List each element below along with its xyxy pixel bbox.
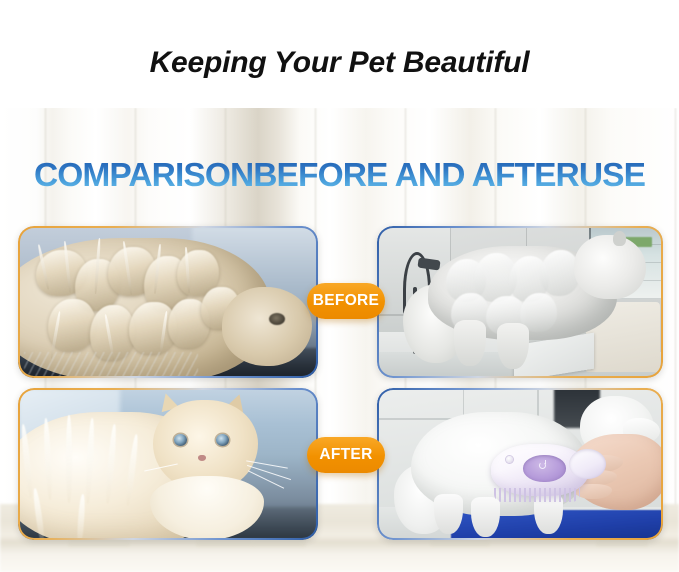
panel-before-dog[interactable] — [377, 226, 663, 378]
scene-matted-cat — [18, 226, 318, 378]
panel-before-cat[interactable] — [18, 226, 318, 378]
device-bristles — [494, 488, 580, 502]
scene-groomed-cat — [18, 388, 318, 540]
scene-groomed-dog-with-device — [377, 388, 663, 540]
panel-after-dog[interactable] — [377, 388, 663, 540]
badge-after: AFTER — [307, 437, 385, 473]
device-handle-ring — [569, 449, 606, 479]
cat-eye-left — [174, 434, 187, 446]
cat-eye-right — [216, 434, 229, 446]
cat-head — [222, 287, 312, 366]
power-icon-bar — [545, 460, 546, 464]
scene-ungroomed-dog — [377, 226, 663, 378]
panel-after-cat[interactable] — [18, 388, 318, 540]
panel-before-dog-photo — [377, 226, 663, 378]
badge-before: BEFORE — [307, 283, 385, 319]
dog-ear — [613, 231, 626, 246]
cat-nose — [198, 455, 206, 461]
cat-eye — [269, 313, 285, 325]
page-title: Keeping Your Pet Beautiful — [0, 46, 679, 80]
device-button-pad[interactable] — [523, 455, 566, 482]
comparison-subtitle: COMPARISONBEFORE AND AFTERUSE — [0, 157, 679, 195]
panel-after-cat-photo — [18, 388, 318, 540]
product-comparison-poster: Keeping Your Pet Beautiful COMPARISONBEF… — [0, 0, 679, 572]
panel-before-cat-photo — [18, 226, 318, 378]
dog-head — [574, 235, 646, 299]
panel-after-dog-photo — [377, 388, 663, 540]
